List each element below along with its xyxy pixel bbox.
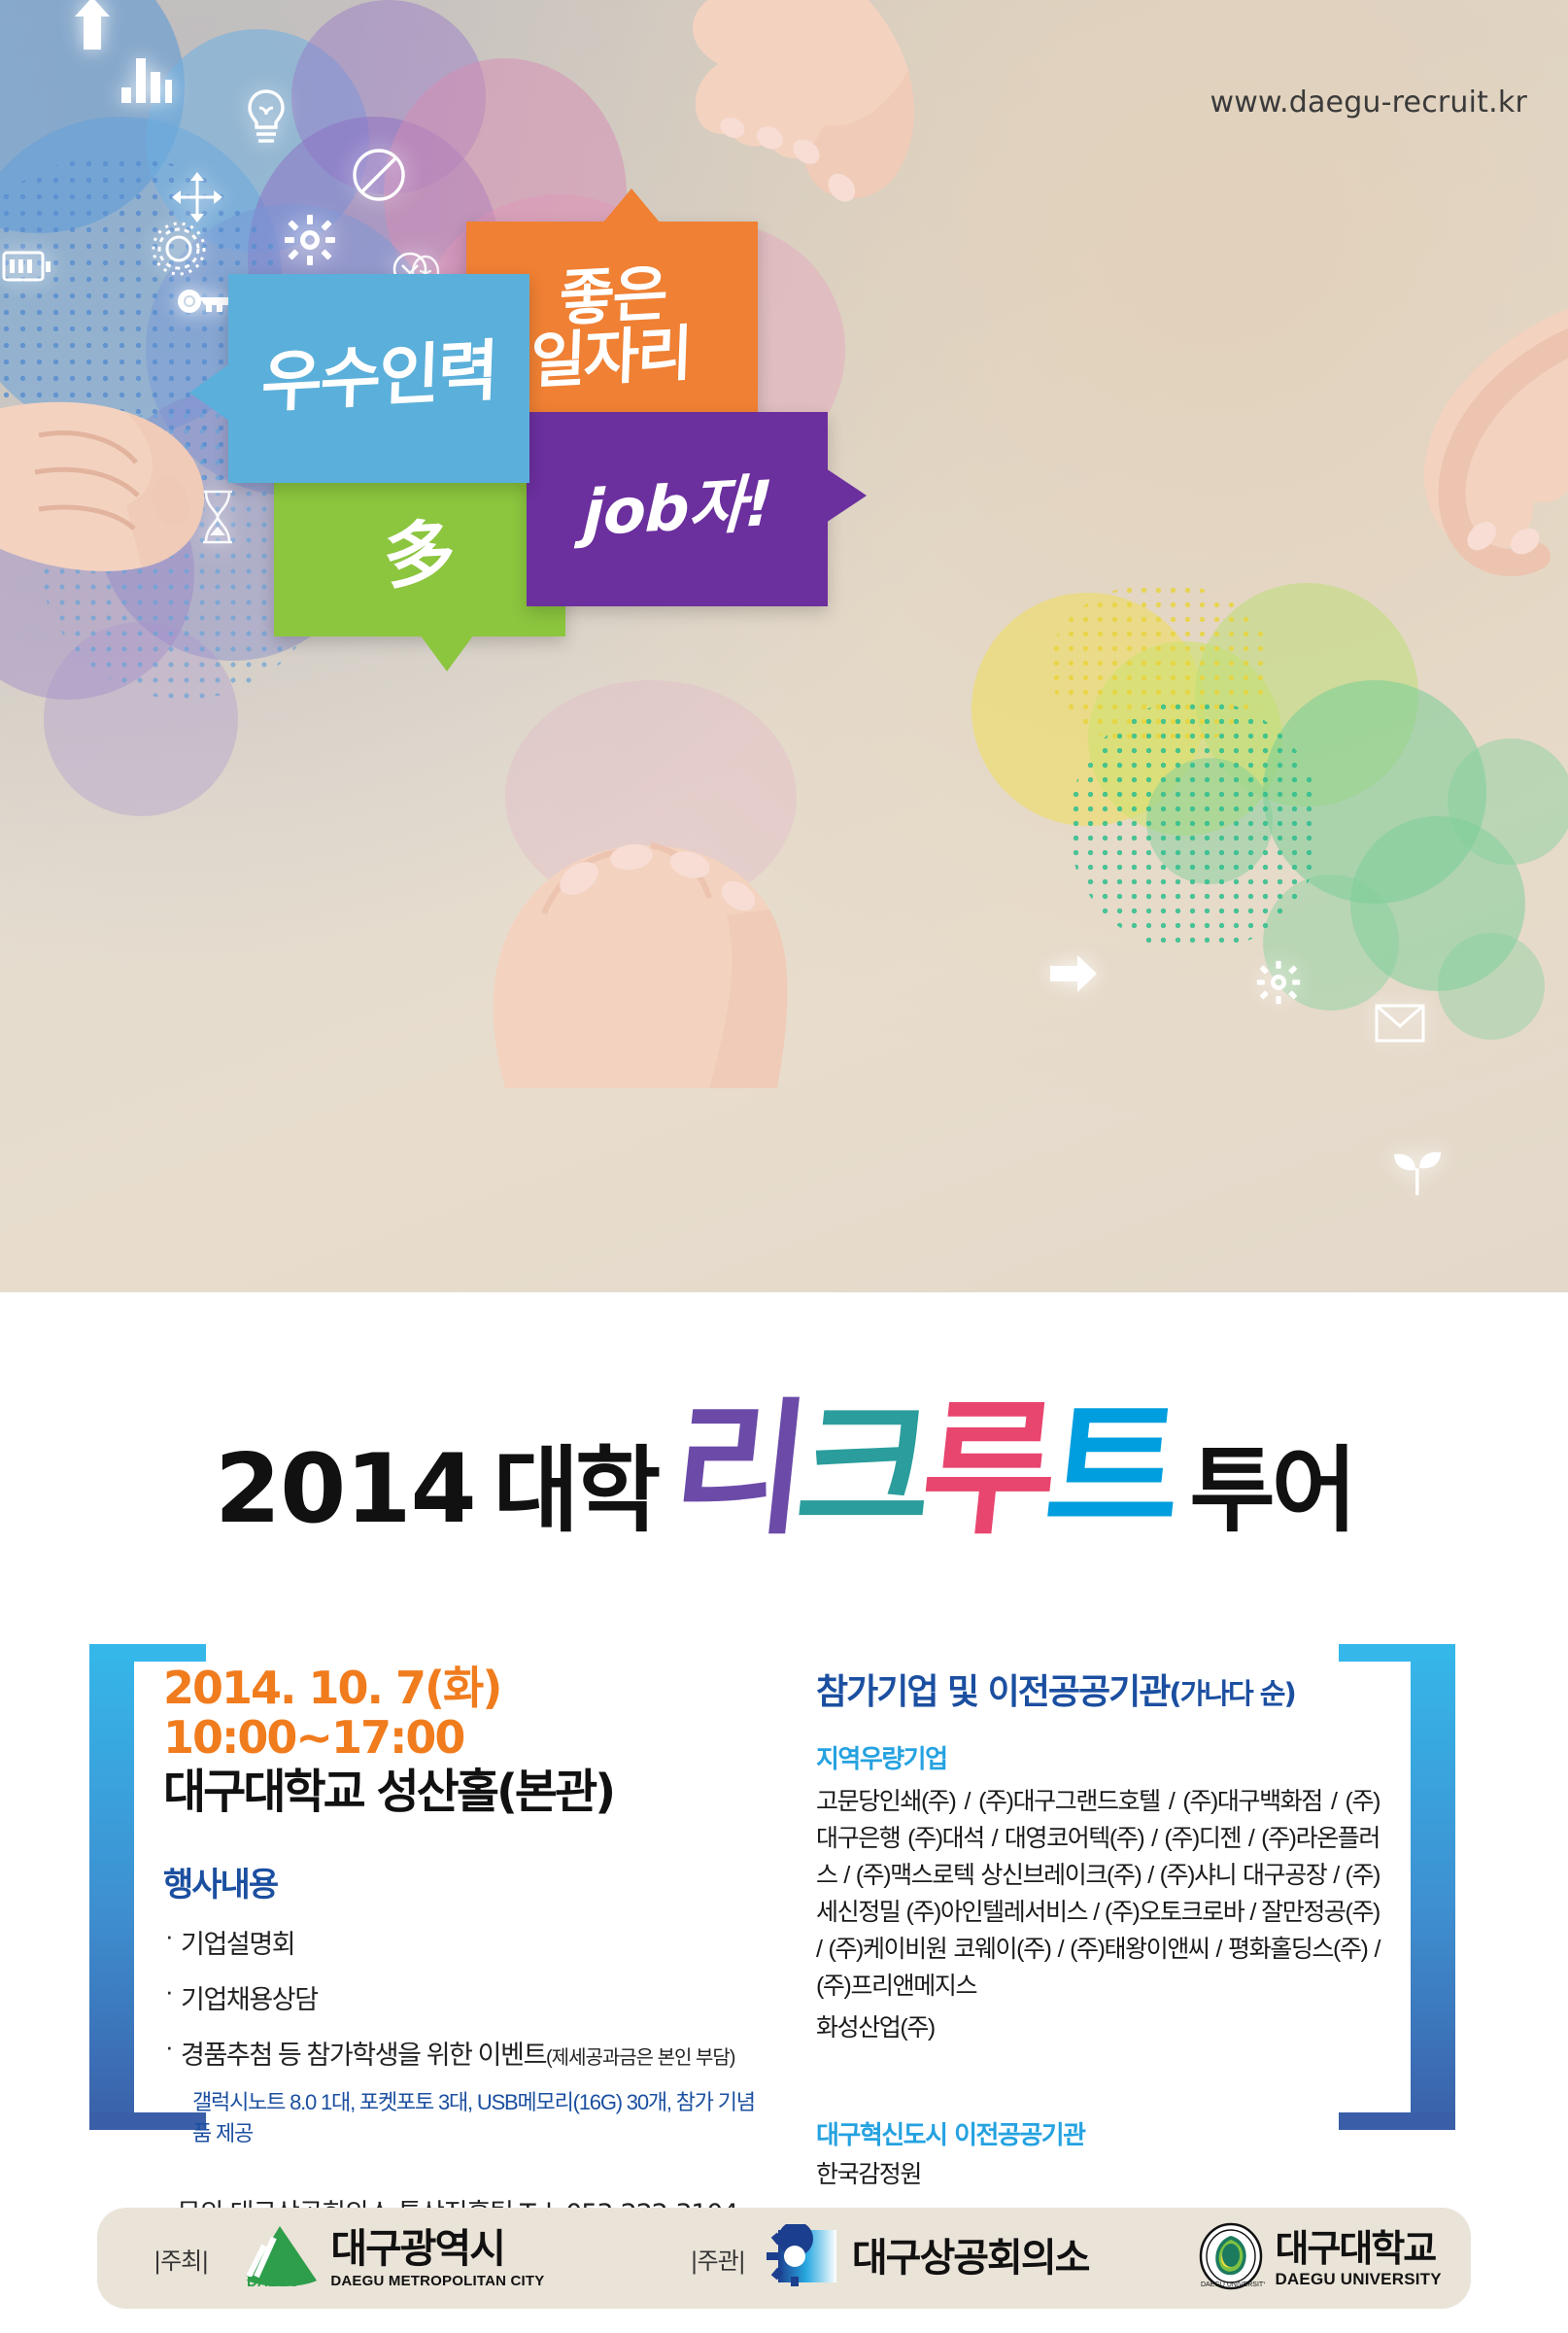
participating-companies-column: 참가기업 및 이전공공기관(가나다 순) 지역우량기업 고문당인쇄(주) / (… <box>816 1664 1380 2193</box>
title-logo-char-1: 리 <box>666 1397 806 1543</box>
speech-bubble-green: 多 <box>274 476 565 636</box>
event-item-label: 기업채용상담 <box>181 1985 318 2014</box>
event-content-heading: 행사내용 <box>163 1858 766 1905</box>
gear-icon <box>282 212 338 268</box>
hero-image: 우수인력 좋은 일자리 多 job자! www.daegu-recruit.kr <box>0 0 1568 1292</box>
bracket-left <box>89 1644 134 2130</box>
bokeh-circle <box>1438 933 1545 1040</box>
event-gift-list: 갤럭시노트 8.0 1대, 포켓포토 3대, USB메모리(16G) 30개, … <box>163 2085 766 2147</box>
bubble-purple-text: job자! <box>582 474 773 543</box>
logo-daegu-university-text: 대구대학교 DAEGU UNIVERSITY <box>1275 2230 1441 2287</box>
title-year: 2014 <box>215 1442 476 1543</box>
bubble-orange-text: 좋은 일자리 <box>529 260 694 393</box>
logo-daegu-city: DAEGU 대구광역시 DAEGU METROPOLITAN CITY <box>231 2224 544 2293</box>
public-institutions-list: 한국감정원 <box>816 2157 1380 2194</box>
arrow-up-icon <box>70 0 115 52</box>
lightbulb-icon <box>238 86 294 150</box>
daegu-city-mountain-icon: DAEGU <box>231 2224 321 2293</box>
companies-title-suffix: (가나다 순) <box>1169 1677 1294 1710</box>
no-entry-icon <box>348 144 410 206</box>
event-item: 경품추첨 등 참가학생을 위한 이벤트(제세공과금은 본인 부담) <box>163 2034 766 2072</box>
event-item: 기업설명회 <box>163 1923 766 1961</box>
event-item-label: 경품추첨 등 참가학생을 위한 이벤트 <box>181 2041 546 2070</box>
bubble-tail-left <box>189 363 230 422</box>
companies-title: 참가기업 및 이전공공기관(가나다 순) <box>816 1664 1380 1714</box>
local-companies-heading: 지역우량기업 <box>816 1739 1380 1775</box>
local-companies-list-last: 화성산업(주) <box>816 2010 1380 2047</box>
dcci-gear-icon <box>767 2224 842 2293</box>
leaf-icon <box>1387 1142 1448 1202</box>
bubble-tail-top <box>602 189 661 223</box>
sponsor-footer: |주최| DAEGU 대구광역시 DAEGU METROPOLITAN CITY… <box>97 2208 1471 2309</box>
title-logo-char-2: 크 <box>791 1397 931 1543</box>
companies-title-main: 참가기업 및 이전공공기관 <box>816 1672 1169 1712</box>
page-title: 2014 대학 리 크 루 트 투어 <box>0 1358 1568 1543</box>
title-tour: 투어 <box>1172 1444 1353 1543</box>
envelope-icon <box>1372 1001 1428 1046</box>
info-panel: 2014. 10. 7(화) 10:00~17:00 대구대학교 성산홀(본관)… <box>0 1613 1568 2157</box>
gear-icon <box>1253 957 1304 1008</box>
title-logo-char-3: 루 <box>915 1397 1055 1543</box>
bubble-tail-right <box>826 468 867 523</box>
website-url[interactable]: www.daegu-recruit.kr <box>1210 86 1527 120</box>
logo-daegu-city-kr: 대구광역시 <box>330 2229 544 2269</box>
bubble-tail-bottom <box>420 635 474 671</box>
title-logo: 리 크 루 트 <box>666 1397 1179 1543</box>
logo-daegu-city-text: 대구광역시 DAEGU METROPOLITAN CITY <box>330 2229 544 2288</box>
logo-daegu-city-en: DAEGU METROPOLITAN CITY <box>330 2274 544 2288</box>
bracket-right <box>1411 1644 1455 2130</box>
public-institutions-heading: 대구혁신도시 이전공공기관 <box>816 2115 1380 2151</box>
event-details-column: 2014. 10. 7(화) 10:00~17:00 대구대학교 성산홀(본관)… <box>163 1664 766 2230</box>
local-companies-list: 고문당인쇄(주) / (주)대구그랜드호텔 / (주)대구백화점 / (주)대구… <box>816 1783 1380 2005</box>
bubble-green-text: 多 <box>383 520 457 592</box>
title-logo-char-4: 트 <box>1040 1397 1180 1543</box>
event-item-note: (제세공과금은 본인 부담) <box>546 2047 734 2069</box>
event-item-label: 기업설명회 <box>181 1930 294 1959</box>
logo-daegu-university-kr: 대구대학교 <box>1275 2230 1441 2267</box>
bracket-left-top-arm <box>89 1644 206 1662</box>
event-place: 대구대학교 성산홀(본관) <box>163 1766 766 1819</box>
logo-dcci: 대구상공회의소 <box>767 2224 1089 2293</box>
bokeh-circle <box>1448 738 1568 865</box>
hand-right <box>1214 292 1568 661</box>
bar-chart-icon <box>117 47 177 107</box>
arrow-right-icon <box>1047 952 1100 995</box>
poster-root: 우수인력 좋은 일자리 多 job자! www.daegu-recruit.kr… <box>0 0 1568 2333</box>
svg-text:DAEGU UNIVERSITY: DAEGU UNIVERSITY <box>1201 2282 1265 2288</box>
section-spacer <box>816 2047 1380 2090</box>
logo-daegu-university-en: DAEGU UNIVERSITY <box>1275 2271 1441 2287</box>
daegu-university-seal-icon: DAEGU UNIVERSITY <box>1197 2222 1265 2295</box>
event-item: 기업채용상담 <box>163 1978 766 2016</box>
host-label: |주최| <box>153 2242 208 2276</box>
hand-bottom <box>389 670 894 1088</box>
svg-text:DAEGU: DAEGU <box>247 2274 299 2288</box>
bubble-orange-line2: 일자리 <box>529 323 692 393</box>
speech-bubble-blue: 우수인력 <box>228 274 529 483</box>
title-univ: 대학 <box>476 1444 675 1543</box>
battery-icon <box>0 243 54 290</box>
bubble-blue-text: 우수인력 <box>260 341 497 416</box>
event-date: 2014. 10. 7(화) 10:00~17:00 <box>163 1664 766 1762</box>
organizer-label: |주관| <box>691 2242 745 2276</box>
logo-dcci-kr: 대구상공회의소 <box>852 2239 1089 2278</box>
logo-daegu-university: DAEGU UNIVERSITY 대구대학교 DAEGU UNIVERSITY <box>1197 2222 1441 2295</box>
gear-icon <box>144 214 214 284</box>
speech-bubble-purple: job자! <box>527 412 828 606</box>
bracket-right-top-arm <box>1339 1644 1455 1662</box>
